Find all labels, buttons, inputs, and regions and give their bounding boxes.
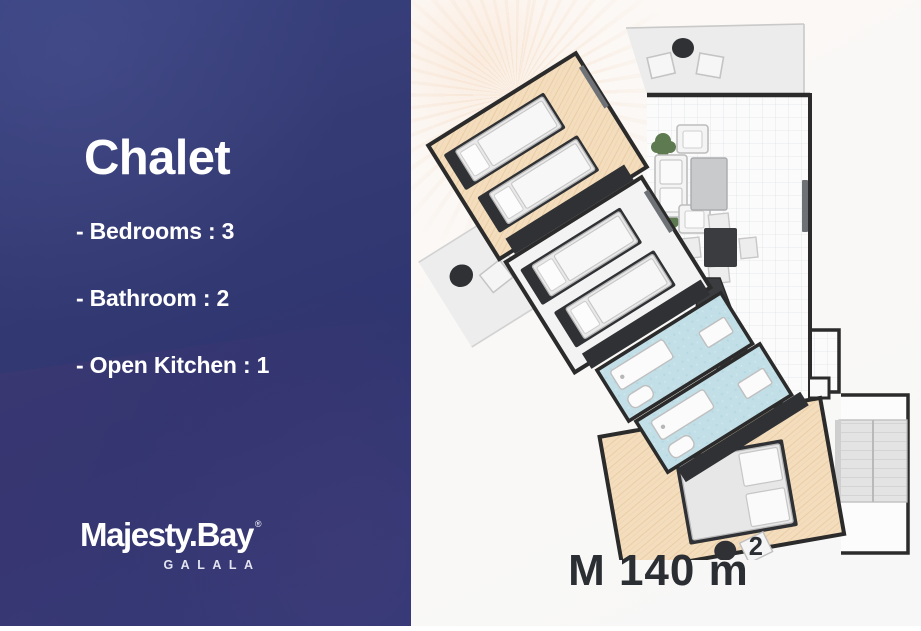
terrace-table-icon bbox=[672, 38, 694, 58]
right-floorplan-panel: M 140 m2 bbox=[411, 0, 921, 626]
logo-trademark-icon: ® bbox=[255, 520, 262, 529]
brand-logo: Majesty.Bay® GALALA bbox=[80, 518, 340, 572]
logo-sublabel: GALALA bbox=[80, 558, 340, 572]
bottom-white-strip bbox=[0, 626, 921, 631]
area-exponent: 2 bbox=[749, 533, 764, 561]
area-prefix: M bbox=[568, 546, 606, 595]
floor-plan-image bbox=[411, 0, 921, 560]
area-label: M 140 m2 bbox=[411, 546, 921, 596]
logo-wordmark: Majesty.Bay® bbox=[80, 518, 340, 551]
coffee-table-icon bbox=[691, 158, 727, 210]
dining-table-icon bbox=[704, 228, 737, 267]
logo-wordmark-text: Majesty.Bay bbox=[80, 516, 253, 553]
slide-root: Chalet - Bedrooms : 3 - Bathroom : 2 - O… bbox=[0, 0, 921, 631]
page-title: Chalet bbox=[84, 134, 230, 183]
window-icon-3 bbox=[802, 180, 808, 232]
left-info-panel: Chalet - Bedrooms : 3 - Bathroom : 2 - O… bbox=[0, 0, 411, 626]
area-unit: m bbox=[709, 546, 749, 595]
room-terrace bbox=[626, 24, 804, 95]
spec-item-open-kitchen: - Open Kitchen : 1 bbox=[76, 352, 376, 379]
spec-item-bathroom: - Bathroom : 2 bbox=[76, 285, 376, 312]
spec-item-bedrooms: - Bedrooms : 3 bbox=[76, 218, 376, 245]
spec-list: - Bedrooms : 3 - Bathroom : 2 - Open Kit… bbox=[76, 218, 376, 419]
plan-geometry bbox=[411, 24, 908, 560]
area-value: 140 bbox=[619, 546, 695, 595]
staircase bbox=[835, 395, 908, 553]
armchair-icon-1 bbox=[677, 125, 708, 153]
